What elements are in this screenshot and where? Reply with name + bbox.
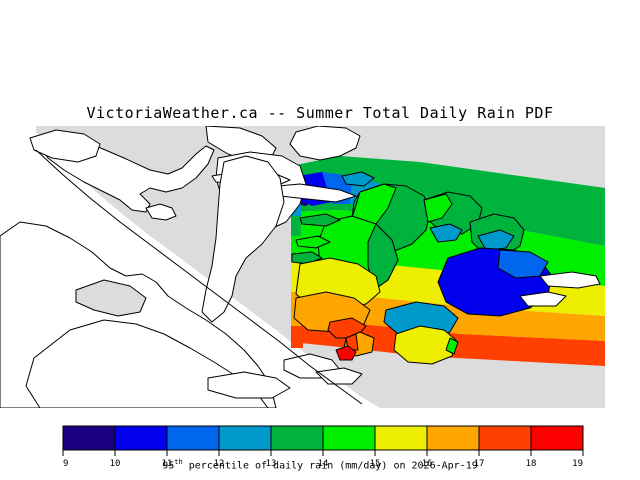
colorbar-swatches [63, 426, 583, 450]
colorbar-swatch [63, 426, 115, 450]
map-svg [0, 126, 640, 408]
colorbar-swatch [427, 426, 479, 450]
colorbar-swatch [531, 426, 583, 450]
caption-text: percentile of daily rain (mm/day) on 202… [183, 460, 478, 471]
caption-number: 95 [162, 460, 174, 471]
page-title: VictoriaWeather.ca -- Summer Total Daily… [0, 104, 640, 122]
weather-map-panel [0, 126, 640, 408]
colorbar-swatch [479, 426, 531, 450]
caption-ordinal: th [174, 458, 182, 466]
colorbar-swatch [323, 426, 375, 450]
colorbar-swatch [219, 426, 271, 450]
colorbar-swatch [167, 426, 219, 450]
island-region [394, 326, 456, 364]
colorbar-swatch [375, 426, 427, 450]
colorbar-caption: 95th percentile of daily rain (mm/day) o… [0, 458, 640, 471]
colorbar-swatch [115, 426, 167, 450]
colorbar-swatch [271, 426, 323, 450]
